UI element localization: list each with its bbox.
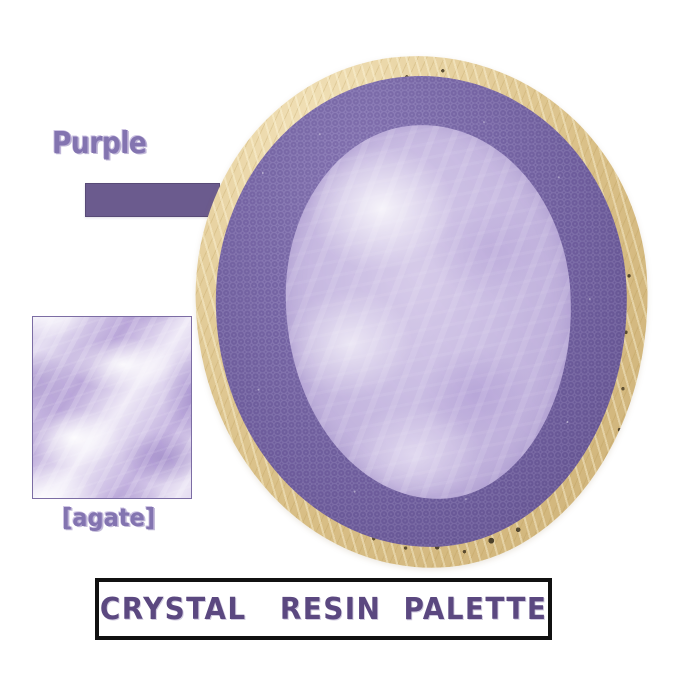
center-marble-layer <box>283 123 574 502</box>
agate-vein-layer <box>33 317 191 498</box>
product-title-banner: CRYSTAL RESIN PALETTE <box>95 578 552 640</box>
palette-center-well <box>283 123 574 502</box>
color-name-label: Purple <box>52 126 146 161</box>
product-image-canvas: Purple [agate] CRYSTAL RESIN PALETTE <box>0 0 679 679</box>
agate-caption-label: [agate] <box>62 503 155 532</box>
crystal-resin-palette-photo <box>196 56 648 568</box>
product-title-text: CRYSTAL RESIN PALETTE <box>100 592 547 627</box>
agate-texture-sample <box>32 316 192 499</box>
